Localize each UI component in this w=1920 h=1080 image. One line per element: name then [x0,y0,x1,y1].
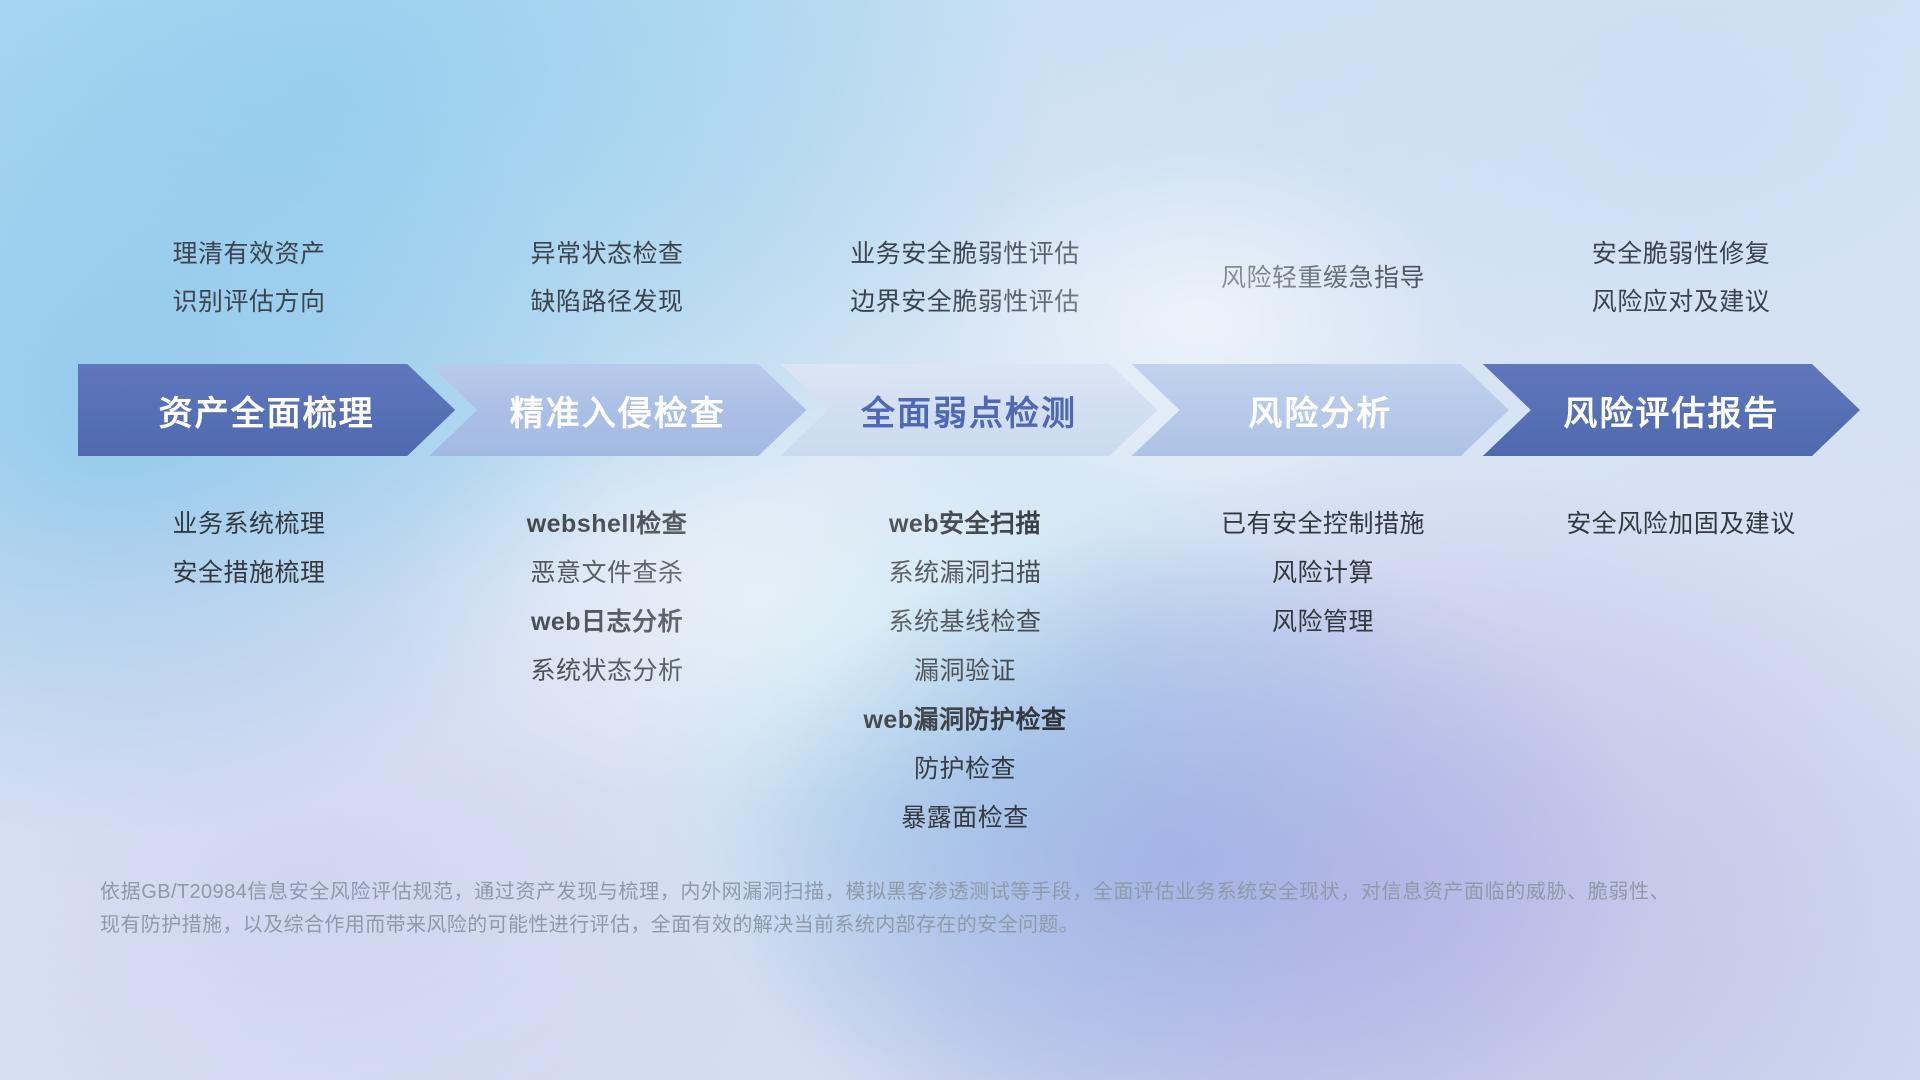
chevron-stage-title: 全面弱点检测 [861,386,1077,435]
detail-column: webshell检查恶意文件查杀web日志分析系统状态分析 [428,500,786,696]
detail-item: 风险计算 [1272,549,1374,598]
detail-item: 系统基线检查 [888,598,1041,647]
detail-item: webshell检查 [527,500,688,549]
detail-column: 已有安全控制措施风险计算风险管理 [1144,500,1502,647]
top-label-row: 理清有效资产识别评估方向异常状态检查缺陷路径发现业务安全脆弱性评估边界安全脆弱性… [70,215,1860,340]
chevron-stage-1[interactable]: 资产全面梳理 [78,364,455,456]
top-label: 风险应对及建议 [1592,278,1771,326]
bottom-detail-row: 业务系统梳理安全措施梳理webshell检查恶意文件查杀web日志分析系统状态分… [70,500,1860,843]
top-label-column: 风险轻重缓急指导 [1144,215,1502,340]
top-label: 异常状态检查 [530,230,683,278]
top-label: 理清有效资产 [172,230,325,278]
chevron-stage-5[interactable]: 风险评估报告 [1483,364,1860,456]
detail-column: web安全扫描系统漏洞扫描系统基线检查漏洞验证web漏洞防护检查防护检查暴露面检… [786,500,1144,843]
detail-item: 暴露面检查 [901,794,1029,843]
top-label-column: 安全脆弱性修复风险应对及建议 [1502,215,1860,340]
detail-item: 安全风险加固及建议 [1566,500,1796,549]
detail-item: 防护检查 [914,745,1016,794]
detail-item: 已有安全控制措施 [1221,500,1425,549]
top-label: 安全脆弱性修复 [1592,230,1771,278]
detail-item: web安全扫描 [889,500,1041,549]
chevron-stage-2[interactable]: 精准入侵检查 [429,364,806,456]
detail-item: web漏洞防护检查 [863,696,1066,745]
footer-description: 依据GB/T20984信息安全风险评估规范，通过资产发现与梳理，内外网漏洞扫描，… [100,876,1670,942]
chevron-stage-title: 风险分析 [1248,386,1392,435]
top-label: 边界安全脆弱性评估 [850,278,1080,326]
detail-column: 业务系统梳理安全措施梳理 [70,500,428,598]
detail-item: 业务系统梳理 [172,500,325,549]
detail-item: 安全措施梳理 [172,549,325,598]
top-label: 风险轻重缓急指导 [1221,254,1425,302]
top-label: 缺陷路径发现 [530,278,683,326]
detail-item: 风险管理 [1272,598,1374,647]
detail-item: 恶意文件查杀 [530,549,683,598]
top-label-column: 理清有效资产识别评估方向 [70,215,428,340]
chevron-process-band: 资产全面梳理精准入侵检查全面弱点检测风险分析风险评估报告 [78,364,1860,456]
chevron-stage-title: 精准入侵检查 [510,386,726,435]
chevron-stage-4[interactable]: 风险分析 [1132,364,1509,456]
detail-item: 系统漏洞扫描 [888,549,1041,598]
infographic-canvas: 理清有效资产识别评估方向异常状态检查缺陷路径发现业务安全脆弱性评估边界安全脆弱性… [0,0,1920,1080]
detail-item: web日志分析 [531,598,683,647]
top-label-column: 业务安全脆弱性评估边界安全脆弱性评估 [786,215,1144,340]
detail-item: 漏洞验证 [914,647,1016,696]
top-label: 识别评估方向 [172,278,325,326]
top-label-column: 异常状态检查缺陷路径发现 [428,215,786,340]
top-label: 业务安全脆弱性评估 [850,230,1080,278]
chevron-stage-title: 资产全面梳理 [159,386,375,435]
detail-column: 安全风险加固及建议 [1502,500,1860,549]
chevron-stage-3[interactable]: 全面弱点检测 [780,364,1157,456]
detail-item: 系统状态分析 [530,647,683,696]
chevron-stage-title: 风险评估报告 [1563,386,1779,435]
